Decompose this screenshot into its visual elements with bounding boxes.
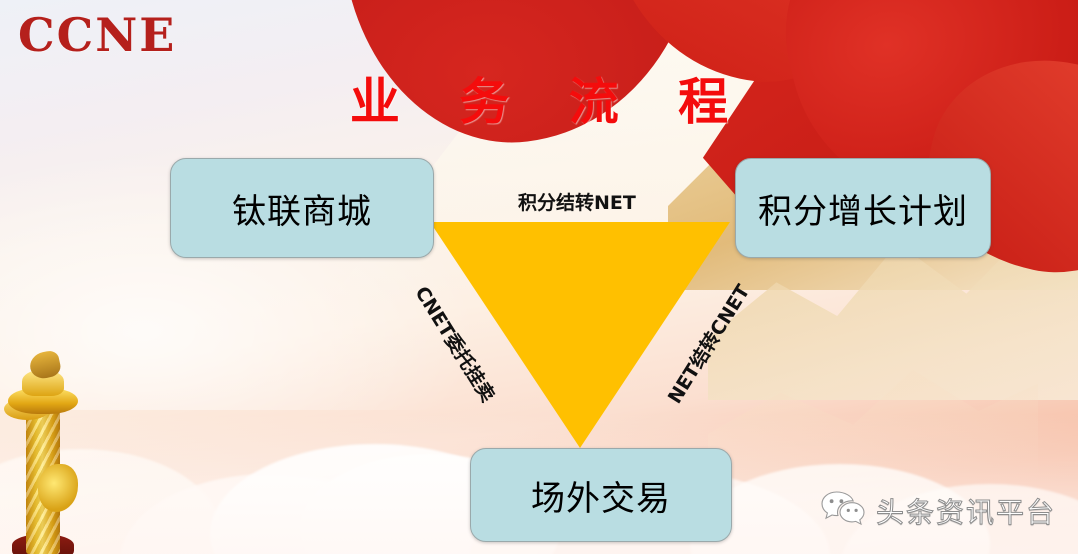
node-label: 场外交易 (531, 471, 671, 520)
huabiao-disk (8, 388, 78, 414)
node-label: 钛联商城 (232, 184, 372, 233)
huabiao-beast (28, 349, 63, 381)
cloud-far-left (0, 449, 220, 554)
huabiao-base (12, 534, 74, 554)
slide-canvas: CCNE 业 务 流 程 钛联商城 积分增长计划 场外交易 积分结转NET CN… (0, 0, 1078, 554)
golden-mountain-front (708, 250, 1038, 480)
edge-label-points-to-net: 积分结转NET (518, 188, 636, 215)
cloud-left (120, 474, 420, 554)
huabiao-column (4, 352, 76, 554)
node-otc-trading[interactable]: 场外交易 (470, 448, 732, 542)
wechat-icon (820, 490, 866, 532)
wechat-watermark: 头条资讯平台 (820, 490, 1056, 532)
wechat-account-name: 头条资讯平台 (876, 491, 1056, 531)
process-triangle (430, 222, 730, 448)
huabiao-cap (22, 370, 64, 396)
huabiao-shaft (26, 408, 60, 554)
page-title: 业 务 流 程 (0, 62, 1078, 134)
huabiao-cloud-plate (4, 398, 50, 420)
ccne-logo: CCNE (18, 8, 176, 62)
node-points-growth-plan[interactable]: 积分增长计划 (735, 158, 991, 258)
node-titanium-mall[interactable]: 钛联商城 (170, 158, 434, 258)
huabiao-cloud-wing (38, 464, 78, 512)
node-label: 积分增长计划 (758, 184, 968, 233)
